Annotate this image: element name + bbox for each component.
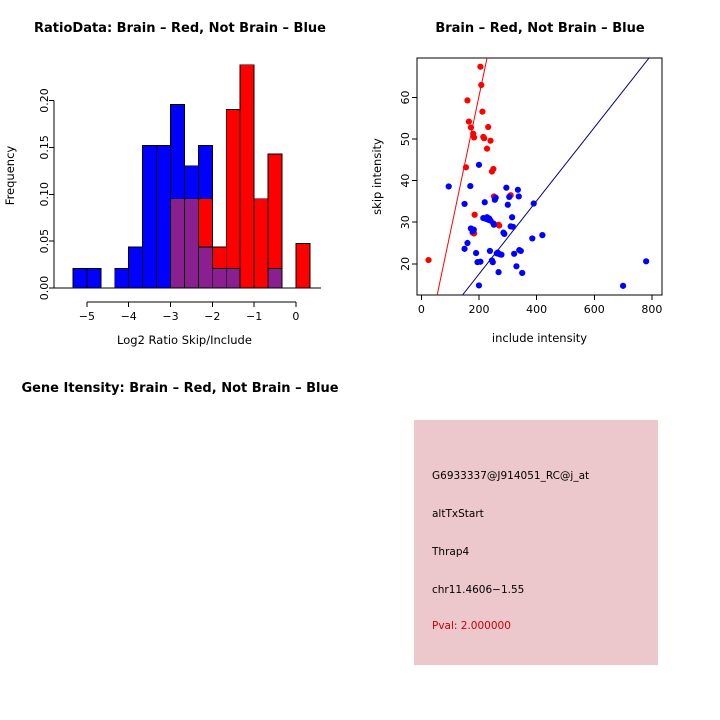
data-point (482, 199, 488, 205)
data-point (515, 187, 521, 193)
histogram-bar (143, 145, 157, 288)
data-point (510, 224, 516, 230)
gene-intensity-histogram-svg: 0.000.050.100.152030405060IntensityFrequ… (0, 360, 360, 720)
data-point (493, 195, 499, 201)
y-axis-title: Frequency (3, 146, 17, 206)
histogram-bar (198, 247, 212, 288)
data-point (498, 252, 504, 258)
y-tick-label: 0.15 (38, 135, 51, 160)
histogram-bar (226, 109, 240, 288)
plot-box (417, 58, 662, 295)
data-point (467, 183, 473, 189)
data-point (468, 124, 474, 130)
data-point (481, 135, 487, 141)
data-point (620, 283, 626, 289)
y-tick-label: 60 (399, 91, 412, 105)
histogram-bar (157, 145, 171, 288)
histogram-bar (170, 199, 184, 288)
data-point (473, 250, 479, 256)
data-point (477, 64, 483, 70)
data-point (539, 232, 545, 238)
data-point (496, 222, 502, 228)
panel-gene-intensity-histogram: Gene Itensity: Brain – Red, Not Brain – … (0, 360, 360, 720)
scatter-series-not-brain (446, 162, 650, 289)
data-point (503, 185, 509, 191)
panel-intensity-scatter: Brain – Red, Not Brain – Blue 2030405060… (360, 0, 720, 360)
data-point (466, 119, 472, 125)
histogram-bar (268, 154, 282, 288)
y-tick-label: 0.00 (38, 276, 51, 301)
x-tick-label: 800 (641, 303, 662, 316)
data-point (511, 251, 517, 257)
data-point (461, 246, 467, 252)
x-tick-label: 600 (584, 303, 605, 316)
data-point (643, 258, 649, 264)
data-point (518, 248, 524, 254)
data-point (464, 240, 470, 246)
data-point (505, 202, 511, 208)
data-point (472, 212, 478, 218)
x-tick-label: −5 (79, 310, 95, 323)
y-axis: 0.000.050.100.150.20 (38, 88, 54, 300)
data-point (471, 134, 477, 140)
data-point (490, 259, 496, 265)
histogram-bar (268, 269, 282, 289)
x-tick-label: −4 (121, 310, 137, 323)
data-point (506, 194, 512, 200)
panel-ratio-histogram: RatioData: Brain – Red, Not Brain – Blue… (0, 0, 360, 360)
y-tick-label: 40 (399, 174, 412, 188)
data-point (471, 227, 477, 233)
x-tick-label: 0 (418, 303, 425, 316)
y-axis-title: skip intensity (370, 138, 384, 215)
histogram-bar (115, 269, 129, 289)
data-point (490, 166, 496, 172)
histogram-bar (184, 199, 198, 288)
histogram-bar (73, 269, 87, 289)
y-tick-label: 20 (399, 257, 412, 271)
histogram-bar (129, 247, 143, 288)
data-point (476, 282, 482, 288)
data-point (477, 259, 483, 265)
data-point (531, 200, 537, 206)
data-point (491, 222, 497, 228)
info-locus: chr11.4606−1.55 (432, 584, 524, 596)
histogram-bar (87, 269, 101, 289)
y-tick-label: 50 (399, 132, 412, 146)
data-point (425, 257, 431, 263)
data-point (461, 201, 467, 207)
data-point (487, 248, 493, 254)
data-point (463, 164, 469, 170)
data-point (509, 214, 515, 220)
histogram-bar (240, 65, 254, 288)
x-tick-label: 0 (292, 310, 299, 323)
data-point (529, 235, 535, 241)
info-probe-id: G6933337@J914051_RC@j_at (432, 470, 589, 482)
data-point (479, 109, 485, 115)
data-point (495, 269, 501, 275)
x-axis: −5−4−3−2−10 (79, 302, 300, 323)
info-gene-symbol: Thrap4 (432, 546, 469, 558)
y-tick-label: 0.05 (38, 229, 51, 254)
data-point (478, 82, 484, 88)
data-point (513, 263, 519, 269)
y-tick-label: 30 (399, 215, 412, 229)
data-point (519, 270, 525, 276)
histogram-bar (212, 269, 226, 289)
data-point (446, 183, 452, 189)
histogram-bar (254, 199, 268, 288)
x-tick-label: −2 (204, 310, 220, 323)
data-point (516, 193, 522, 199)
data-point (501, 231, 507, 237)
x-tick-label: 400 (526, 303, 547, 316)
x-tick-label: −1 (246, 310, 262, 323)
x-axis-title: Log2 Ratio Skip/Include (117, 333, 252, 347)
y-tick-label: 0.20 (38, 88, 51, 113)
ratio-histogram-svg: 0.000.050.100.150.20−5−4−3−2−10Log2 Rati… (0, 0, 360, 360)
data-point (485, 124, 491, 130)
data-point (476, 162, 482, 168)
x-tick-label: −3 (162, 310, 178, 323)
data-point (484, 146, 490, 152)
info-event-type: altTxStart (432, 508, 484, 520)
x-axis: 0200400600800 (418, 295, 663, 316)
histogram-bar (226, 269, 240, 289)
y-tick-label: 0.10 (38, 182, 51, 207)
data-point (487, 138, 493, 144)
x-tick-label: 200 (468, 303, 489, 316)
intensity-scatter-svg: 20304050600200400600800include intensity… (360, 0, 720, 360)
y-axis: 2030405060 (399, 91, 417, 271)
info-pvalue: Pval: 2.000000 (432, 620, 511, 632)
data-point (464, 97, 470, 103)
histogram-bar (296, 243, 310, 288)
x-axis-title: include intensity (492, 331, 587, 345)
panel-info: G6933337@J914051_RC@j_at altTxStart Thra… (360, 360, 720, 720)
